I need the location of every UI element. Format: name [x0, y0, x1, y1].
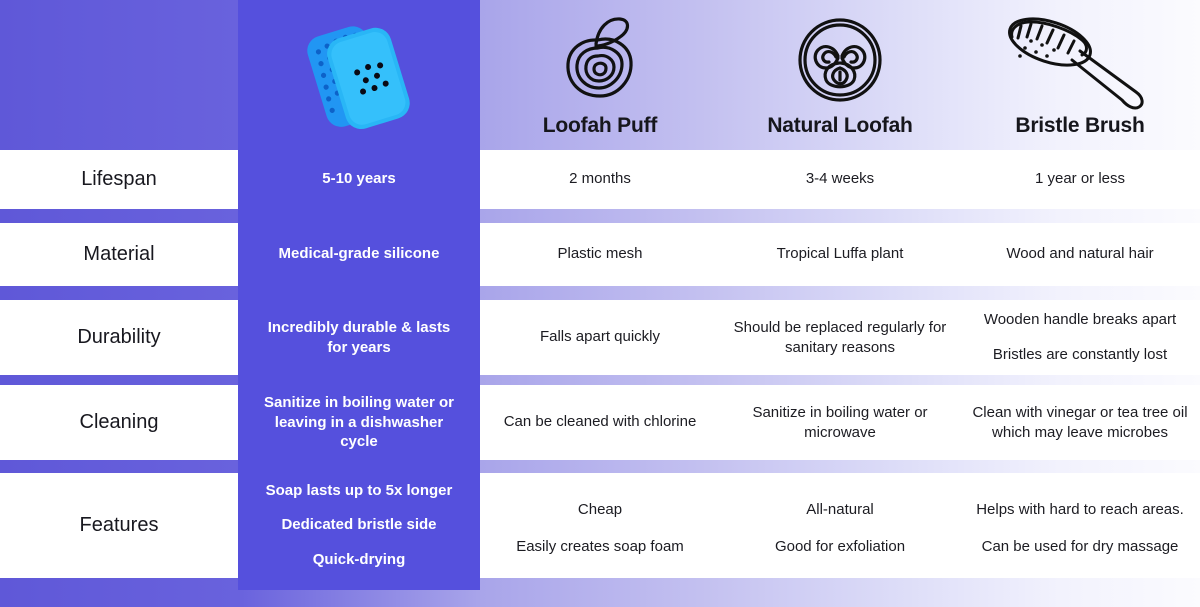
cell-line: Good for exfoliation	[775, 537, 905, 557]
row-label-cleaning: Cleaning	[0, 385, 238, 460]
header-attribute-cell	[0, 0, 238, 150]
cell-bristle-brush-durability: Wooden handle breaks apart Bristles are …	[960, 300, 1200, 375]
cell-line: Tropical Luffa plant	[777, 244, 904, 264]
natural-loofah-icon	[720, 6, 960, 114]
cell-loofah-puff-features: Cheap Easily creates soap foam	[480, 473, 720, 578]
cell-featured-features: Soap lasts up to 5x longer Dedicated bri…	[238, 473, 480, 578]
cell-line: Bristles are constantly lost	[993, 345, 1167, 365]
cell-natural-loofah-cleaning: Sanitize in boiling water or microwave	[720, 385, 960, 460]
cell-featured-material: Medical-grade silicone	[238, 223, 480, 286]
row-label-material: Material	[0, 223, 238, 286]
cell-bristle-brush-material: Wood and natural hair	[960, 223, 1200, 286]
cell-featured-lifespan: 5-10 years	[238, 150, 480, 209]
cell-natural-loofah-material: Tropical Luffa plant	[720, 223, 960, 286]
bristle-brush-icon	[960, 6, 1200, 114]
cell-bristle-brush-lifespan: 1 year or less	[960, 150, 1200, 209]
cell-line: Helps with hard to reach areas.	[976, 500, 1184, 520]
header-bristle-brush-cell: Bristle Brush	[960, 0, 1200, 150]
product-title-loofah-puff: Loofah Puff	[480, 114, 720, 138]
cell-line: Medical-grade silicone	[279, 244, 440, 264]
table-row: Lifespan 5-10 years 2 months 3-4 weeks 1…	[0, 150, 1200, 209]
cell-line: Incredibly durable & lasts for years	[267, 318, 452, 357]
cell-loofah-puff-durability: Falls apart quickly	[480, 300, 720, 375]
cell-line: Cheap	[578, 500, 622, 520]
table-header: Loofah Puff	[0, 0, 1200, 150]
header-loofah-puff-cell: Loofah Puff	[480, 0, 720, 150]
cell-natural-loofah-features: All-natural Good for exfoliation	[720, 473, 960, 578]
cell-loofah-puff-material: Plastic mesh	[480, 223, 720, 286]
table-row: Cleaning Sanitize in boiling water or le…	[0, 385, 1200, 460]
row-label-features: Features	[0, 473, 238, 578]
row-label-durability: Durability	[0, 300, 238, 375]
cell-line: 1 year or less	[1035, 169, 1125, 189]
product-title-natural-loofah: Natural Loofah	[720, 114, 960, 138]
cell-featured-durability: Incredibly durable & lasts for years	[238, 300, 480, 375]
cell-line: Sanitize in boiling water or microwave	[738, 403, 943, 442]
cell-line: All-natural	[806, 500, 874, 520]
cell-line: Sanitize in boiling water or leaving in …	[254, 393, 464, 452]
cell-line: Soap lasts up to 5x longer	[266, 481, 453, 501]
cell-line: 2 months	[569, 169, 631, 189]
loofah-puff-icon	[480, 6, 720, 114]
cell-line: Wood and natural hair	[1006, 244, 1153, 264]
cell-line: Wooden handle breaks apart	[984, 310, 1176, 330]
table-row: Material Medical-grade silicone Plastic …	[0, 223, 1200, 286]
cell-bristle-brush-features: Helps with hard to reach areas. Can be u…	[960, 473, 1200, 578]
cell-line: Falls apart quickly	[540, 327, 660, 347]
cell-bristle-brush-cleaning: Clean with vinegar or tea tree oil which…	[960, 385, 1200, 460]
cell-featured-cleaning: Sanitize in boiling water or leaving in …	[238, 385, 480, 460]
cell-line: Clean with vinegar or tea tree oil which…	[969, 403, 1191, 442]
cell-line: Quick-drying	[313, 550, 406, 570]
row-label-lifespan: Lifespan	[0, 150, 238, 209]
product-title-bristle-brush: Bristle Brush	[960, 114, 1200, 138]
cell-natural-loofah-lifespan: 3-4 weeks	[720, 150, 960, 209]
cell-line: Easily creates soap foam	[516, 537, 684, 557]
cell-natural-loofah-durability: Should be replaced regularly for sanitar…	[720, 300, 960, 375]
cell-line: Dedicated bristle side	[281, 515, 436, 535]
cell-line: Can be cleaned with chlorine	[504, 412, 697, 432]
cell-line: Plastic mesh	[557, 244, 642, 264]
cell-loofah-puff-cleaning: Can be cleaned with chlorine	[480, 385, 720, 460]
cell-line: Should be replaced regularly for sanitar…	[733, 318, 948, 357]
silicone-scrubber-icon	[238, 0, 480, 150]
header-silicone-scrubber-cell	[238, 0, 480, 150]
comparison-table: Loofah Puff	[0, 0, 1200, 607]
cell-line: 3-4 weeks	[806, 169, 874, 189]
header-natural-loofah-cell: Natural Loofah	[720, 0, 960, 150]
table-row: Durability Incredibly durable & lasts fo…	[0, 300, 1200, 375]
cell-line: Can be used for dry massage	[982, 537, 1179, 557]
cell-line: 5-10 years	[322, 169, 395, 189]
table-row: Features Soap lasts up to 5x longer Dedi…	[0, 473, 1200, 578]
cell-loofah-puff-lifespan: 2 months	[480, 150, 720, 209]
